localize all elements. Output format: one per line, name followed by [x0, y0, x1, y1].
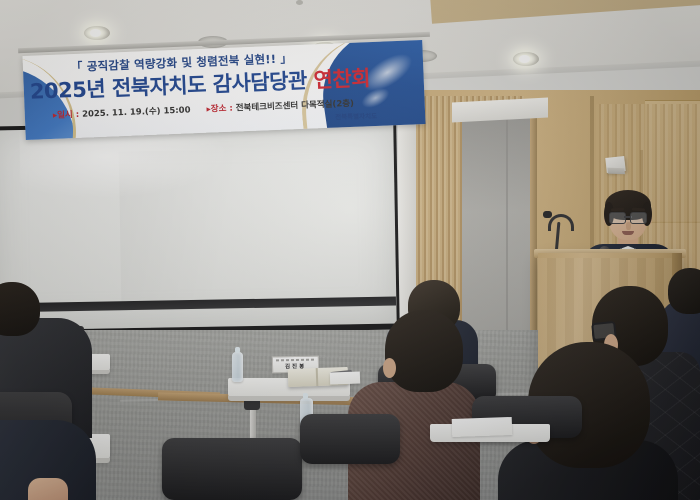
speaker-nose — [626, 222, 631, 230]
banner-date-label: ▸일시 : — [53, 110, 83, 121]
attendee-tweed-ear — [383, 358, 396, 378]
ceiling-spotlight-icon — [513, 52, 539, 66]
chair-back — [300, 414, 400, 464]
doorway-alcove — [462, 112, 530, 362]
ceiling-sensor-icon — [296, 0, 303, 5]
event-banner: 「 공직감찰 역량강화 및 청렴전북 실현!! 」 2025년 전북자치도 감사… — [22, 40, 425, 140]
province-logo: 전북특별자치도 — [335, 110, 377, 121]
banner-place-label: ▸장소 : — [206, 104, 236, 115]
attendee-far-right-head — [668, 268, 700, 314]
paper-handout — [330, 371, 360, 384]
desk-edge — [228, 396, 350, 401]
ceiling-spotlight-icon — [84, 26, 110, 40]
gooseneck-mic-head-icon — [543, 211, 552, 218]
banner-title-main: 2025년 전북자치도 감사담당관 — [29, 68, 314, 103]
chair-back — [162, 438, 302, 500]
screen-crease — [119, 148, 302, 301]
banner-title-accent: 연찬회 — [313, 66, 370, 92]
water-bottle — [232, 352, 243, 382]
conference-room: 「 공직감찰 역량강화 및 청렴전북 실현!! 」 2025년 전북자치도 감사… — [0, 0, 700, 500]
photo-canvas: 「 공직감찰 역량강화 및 청렴전북 실현!! 」 2025년 전북자치도 감사… — [0, 0, 700, 500]
wall-speaker-icon — [605, 156, 625, 173]
attendee-left-front-hand — [28, 478, 68, 500]
banner-date-value: 2025. 11. 19.(수) 15:00 — [82, 105, 191, 119]
door-jamb — [530, 112, 537, 362]
attendee-tweed-head — [385, 310, 463, 392]
paper-handout — [452, 417, 513, 437]
door-edge — [506, 120, 508, 350]
